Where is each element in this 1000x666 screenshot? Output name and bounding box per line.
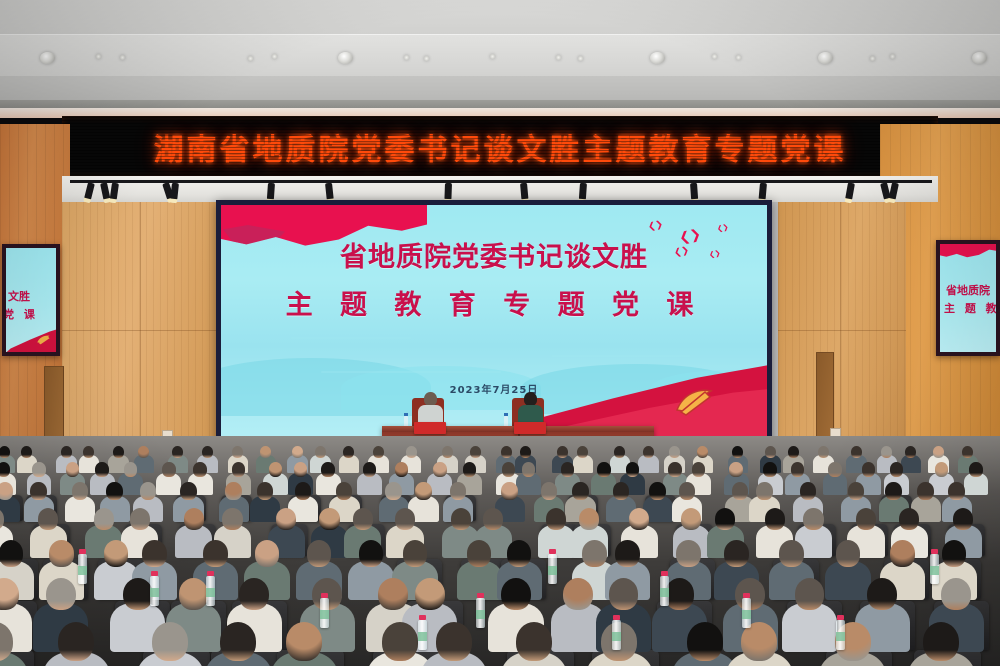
water-bottle	[742, 598, 751, 628]
track-light	[579, 183, 587, 200]
audience-member-head	[442, 446, 453, 458]
audience-member-head	[66, 462, 79, 477]
audience-member-head	[791, 462, 804, 477]
audience-member-head	[415, 578, 445, 610]
led-banner-text: 湖南省地质院党委书记谈文胜主题教育专题党课	[62, 125, 938, 169]
audience-member-head	[546, 508, 566, 530]
audience-member-head	[373, 446, 384, 458]
audience-member-head	[765, 508, 785, 530]
audience-member-head	[83, 446, 94, 458]
ceiling-spotlight	[972, 52, 987, 64]
side-monitor-right: 省地质院 主 题 教	[936, 240, 1000, 356]
audience-member-head	[470, 446, 481, 458]
audience-member	[516, 622, 584, 666]
audience-member-head	[463, 462, 476, 477]
audience-member-head	[220, 622, 256, 661]
audience-member-head	[626, 462, 639, 477]
audience-member-head	[95, 462, 108, 477]
water-bottle	[930, 554, 939, 584]
ceiling-spotlight-small	[712, 54, 717, 59]
audience-member-head	[450, 482, 466, 500]
speaker-right-head	[524, 392, 537, 406]
bird-icon: ❮❯	[647, 220, 664, 232]
bottle-label	[742, 610, 751, 619]
audience-member-head	[433, 462, 446, 477]
audience-member-head	[286, 622, 322, 661]
ceiling-spotlight-small	[248, 56, 253, 61]
audience-member	[436, 622, 504, 666]
audience-member-head	[501, 446, 512, 458]
audience-member-head	[579, 508, 599, 530]
audience-member-head	[597, 462, 610, 477]
audience-member-head	[49, 540, 73, 567]
side-monitor-right-text-1: 省地质院	[946, 282, 990, 298]
audience-member-head	[687, 622, 723, 661]
audience-member	[741, 622, 809, 666]
audience-member-head	[21, 446, 32, 458]
audience-member-head	[46, 578, 76, 610]
wave-line	[461, 325, 621, 327]
audience-member-head	[359, 540, 383, 567]
bottle-cap	[477, 593, 484, 598]
ceiling	[0, 0, 1000, 108]
audience-member-head	[561, 462, 574, 477]
side-monitor-right-screen: 省地质院 主 题 教	[940, 244, 996, 352]
audience-member-head	[788, 446, 799, 458]
auditorium-photo: 湖南省地质院党委书记谈文胜主题教育专题党课 文胜 党 课 省地质院 主	[0, 0, 1000, 666]
audience-member-head	[172, 446, 183, 458]
audience-member-head	[378, 578, 408, 610]
wave-line	[291, 337, 411, 339]
side-monitor-left-screen: 文胜 党 课	[6, 248, 56, 352]
audience-member-head	[557, 446, 568, 458]
audience-member-head	[483, 508, 503, 530]
audience-member-head	[679, 482, 695, 500]
audience-member-head	[867, 578, 897, 610]
audience-area	[0, 436, 1000, 666]
presentation-slide: ❮❯ ❮❯ ❮❯ ❮❯ ❮❯ 省地质院党委书记谈文胜 主 题 教 育 专 题 党…	[221, 205, 767, 440]
bottle-cap	[931, 549, 938, 554]
audience-member-head	[507, 540, 531, 567]
audience-member-head	[292, 446, 303, 458]
audience-member-head	[124, 462, 137, 477]
track-light	[267, 183, 275, 200]
audience-member-head	[382, 622, 418, 661]
audience-member-head	[502, 462, 515, 477]
water-bottle	[320, 598, 329, 628]
audience-member-head	[140, 482, 156, 500]
ceiling-spotlight-small	[404, 55, 409, 60]
audience-member-head	[436, 622, 472, 661]
audience-member-head	[0, 540, 23, 567]
audience-member-head	[38, 508, 58, 530]
ceiling-spotlight-small	[424, 56, 429, 61]
audience-member-head	[697, 446, 708, 458]
audience-member-head	[138, 446, 149, 458]
audience-member-head	[779, 540, 803, 567]
audience-member-head	[239, 578, 269, 610]
track-light	[520, 183, 528, 201]
audience-member-head	[715, 508, 735, 530]
slide-title-line-1: 省地质院党委书记谈文胜	[221, 235, 767, 274]
bottle-cap	[321, 593, 328, 598]
audience-member-head	[315, 446, 326, 458]
bottle-cap	[151, 571, 158, 576]
audience-member-head	[577, 446, 588, 458]
ceiling-spotlight-small	[870, 56, 875, 61]
bottle-label	[320, 610, 329, 619]
audience-member-head	[668, 462, 681, 477]
audience-member	[0, 622, 45, 666]
wave-line	[321, 371, 501, 373]
audience-member-head	[123, 578, 153, 610]
audience-member-head	[851, 446, 862, 458]
wall-panel-left	[62, 176, 222, 470]
audience-member-head	[61, 446, 72, 458]
audience-member-head	[941, 578, 971, 610]
audience-member-head	[948, 482, 964, 500]
audience-member-head	[193, 462, 206, 477]
audience-member-head	[353, 508, 373, 530]
audience-member-head	[613, 482, 629, 500]
audience-member-head	[415, 482, 431, 500]
audience-member-head	[692, 462, 705, 477]
audience-member-head	[30, 482, 46, 500]
audience-member-head	[669, 446, 680, 458]
bottle-label	[78, 566, 87, 575]
audience-member-head	[800, 482, 816, 500]
audience-member-head	[184, 508, 204, 530]
main-led-screen: ❮❯ ❮❯ ❮❯ ❮❯ ❮❯ 省地质院党委书记谈文胜 主 题 教 育 专 题 党…	[216, 200, 772, 445]
audience-member-head	[765, 446, 776, 458]
audience-member-head	[935, 462, 948, 477]
track-light	[690, 183, 698, 200]
wall-seam	[778, 330, 906, 331]
bottle-label	[548, 566, 557, 575]
audience-member-head	[113, 446, 124, 458]
audience-member-head	[795, 578, 825, 610]
audience-member-head	[152, 622, 188, 661]
audience-member-head	[501, 482, 517, 500]
water-bottle	[836, 620, 845, 650]
audience-member-head	[724, 540, 748, 567]
wall-seam	[140, 176, 141, 470]
audience-member-head	[180, 482, 196, 500]
audience-member-head	[803, 508, 823, 530]
audience-member-head	[763, 462, 776, 477]
audience-member	[923, 622, 991, 666]
audience-member	[286, 622, 354, 666]
audience-member-head	[962, 446, 973, 458]
audience-member-head	[522, 462, 535, 477]
hammer-sickle-icon	[34, 333, 52, 346]
audience-member-head	[881, 446, 892, 458]
bottle-label	[836, 632, 845, 641]
water-bottle	[660, 576, 669, 606]
audience-member-head	[32, 462, 45, 477]
audience-member-head	[520, 446, 531, 458]
audience-member	[58, 622, 126, 666]
audience-member-head	[969, 462, 982, 477]
bottle-label	[150, 588, 159, 597]
audience-member-head	[130, 508, 150, 530]
audience-member-head	[676, 540, 700, 567]
ceiling-spotlight	[338, 52, 353, 64]
audience-member-head	[649, 482, 665, 500]
audience-member-head	[467, 540, 491, 567]
audience-member-head	[343, 446, 354, 458]
bottle-label	[660, 588, 669, 597]
audience-member-head	[202, 446, 213, 458]
audience-member-head	[276, 508, 296, 530]
ceiling-spotlight-small	[96, 54, 101, 59]
audience-member-head	[58, 622, 94, 661]
wall-seam	[62, 330, 222, 331]
audience-member-head	[917, 482, 933, 500]
audience-member-head	[225, 482, 241, 500]
audience-member-head	[0, 482, 13, 500]
audience-member-head	[923, 622, 959, 661]
audience-member-head	[885, 482, 901, 500]
audience-member-head	[222, 508, 242, 530]
side-monitor-left-text-1: 文胜	[8, 288, 30, 304]
bottle-label	[206, 588, 215, 597]
side-monitor-left-text-2: 党 课	[6, 306, 38, 322]
track-light	[759, 183, 767, 201]
wall-seam	[840, 176, 841, 470]
audience-member-head	[614, 446, 625, 458]
audience-member-head	[953, 508, 973, 530]
track-light	[444, 183, 452, 200]
audience-member-head	[729, 462, 742, 477]
bottle-cap	[613, 615, 620, 620]
bottle-cap	[743, 593, 750, 598]
audience-member-head	[106, 482, 122, 500]
audience-member-head	[732, 482, 748, 500]
water-bottle	[206, 576, 215, 606]
bottle-label	[930, 566, 939, 575]
audience-member-head	[629, 508, 649, 530]
audience-member-head	[732, 446, 743, 458]
audience-member-head	[890, 462, 903, 477]
audience-member-head	[828, 462, 841, 477]
audience-member-head	[501, 578, 531, 610]
side-monitor-right-text-2: 主 题 教	[944, 300, 996, 316]
ceiling-spotlight-small	[120, 55, 125, 60]
audience-member-head	[162, 462, 175, 477]
audience-member-head	[609, 578, 639, 610]
audience-member-head	[179, 578, 209, 610]
audience-member-head	[232, 462, 245, 477]
bottle-label	[418, 632, 427, 641]
audience-member-head	[203, 540, 227, 567]
audience-member-head	[260, 446, 271, 458]
audience-member-head	[756, 482, 772, 500]
water-bottle	[476, 598, 485, 628]
water-bottle	[150, 576, 159, 606]
ceiling-spotlight	[650, 52, 665, 64]
audience-member-head	[848, 482, 864, 500]
bottle-label	[612, 632, 621, 641]
audience-member-head	[933, 446, 944, 458]
slide-title-line-2: 主 题 教 育 专 题 党 课	[221, 283, 767, 322]
audience-member-head	[0, 462, 10, 477]
audience-member-head	[319, 508, 339, 530]
ceiling-spotlight-small	[890, 54, 895, 59]
audience-member-head	[385, 482, 401, 500]
laptop-left	[414, 422, 446, 434]
ceiling-light-band	[0, 34, 1000, 76]
audience-member-head	[294, 462, 307, 477]
audience-member-head	[541, 482, 557, 500]
ceiling-spotlight	[40, 52, 55, 64]
side-monitor-left: 文胜 党 课	[2, 244, 60, 356]
bottle-cap	[549, 549, 556, 554]
wall-panel-right	[778, 176, 906, 470]
audience-member-head	[295, 482, 311, 500]
bottle-cap	[661, 571, 668, 576]
laptop-right	[514, 422, 546, 434]
ceiling-spotlight-small	[578, 56, 583, 61]
ceiling-spotlight-small	[556, 55, 561, 60]
audience-member-head	[0, 446, 10, 458]
audience-member-head	[899, 508, 919, 530]
audience-member-head	[643, 446, 654, 458]
speaker-left-head	[424, 392, 437, 406]
bottle-cap	[419, 615, 426, 620]
audience-member-head	[336, 482, 352, 500]
audience-member-head	[72, 482, 88, 500]
audience-member-head	[890, 540, 914, 567]
audience-member-head	[269, 462, 282, 477]
audience-member-head	[395, 462, 408, 477]
audience-member-head	[94, 508, 114, 530]
audience-member-head	[615, 540, 639, 567]
bird-icon: ❮❯	[717, 224, 730, 233]
audience-member-head	[104, 540, 128, 567]
audience-member-head	[516, 622, 552, 661]
audience-member-head	[232, 446, 243, 458]
bottle-cap	[837, 615, 844, 620]
ceiling-spotlight	[818, 52, 833, 64]
audience-member-head	[142, 540, 166, 567]
audience-member-head	[905, 446, 916, 458]
bottle-label	[476, 610, 485, 619]
ceiling-spotlight-small	[490, 54, 495, 59]
audience-member-head	[582, 540, 606, 567]
audience-member-head	[665, 578, 695, 610]
water-bottle	[418, 620, 427, 650]
audience-member-head	[403, 540, 427, 567]
ceiling-spotlight-small	[272, 54, 277, 59]
bottle-cap	[79, 549, 86, 554]
led-banner: 湖南省地质院党委书记谈文胜主题教育专题党课	[62, 116, 938, 178]
audience-member-head	[395, 508, 415, 530]
audience-member-head	[307, 540, 331, 567]
audience-member-head	[255, 540, 279, 567]
audience-member-head	[942, 540, 966, 567]
audience-member-head	[836, 540, 860, 567]
audience-member-head	[321, 462, 334, 477]
audience-member-head	[862, 462, 875, 477]
audience-member-head	[563, 578, 593, 610]
audience-member-head	[856, 508, 876, 530]
lighting-track-rail	[70, 180, 932, 183]
slide-date: 2023年7月25日	[221, 381, 767, 396]
slide-title: 省地质院党委书记谈文胜 主 题 教 育 专 题 党 课	[221, 235, 767, 322]
audience-member-head	[818, 446, 829, 458]
audience-member-head	[257, 482, 273, 500]
water-bottle	[612, 620, 621, 650]
audience-member-head	[572, 482, 588, 500]
audience-member-head	[406, 446, 417, 458]
wave-line	[551, 355, 691, 357]
bottle-cap	[207, 571, 214, 576]
audience-member-head	[451, 508, 471, 530]
ceiling-spotlight-small	[736, 55, 741, 60]
audience-member-head	[681, 508, 701, 530]
audience-member-head	[363, 462, 376, 477]
